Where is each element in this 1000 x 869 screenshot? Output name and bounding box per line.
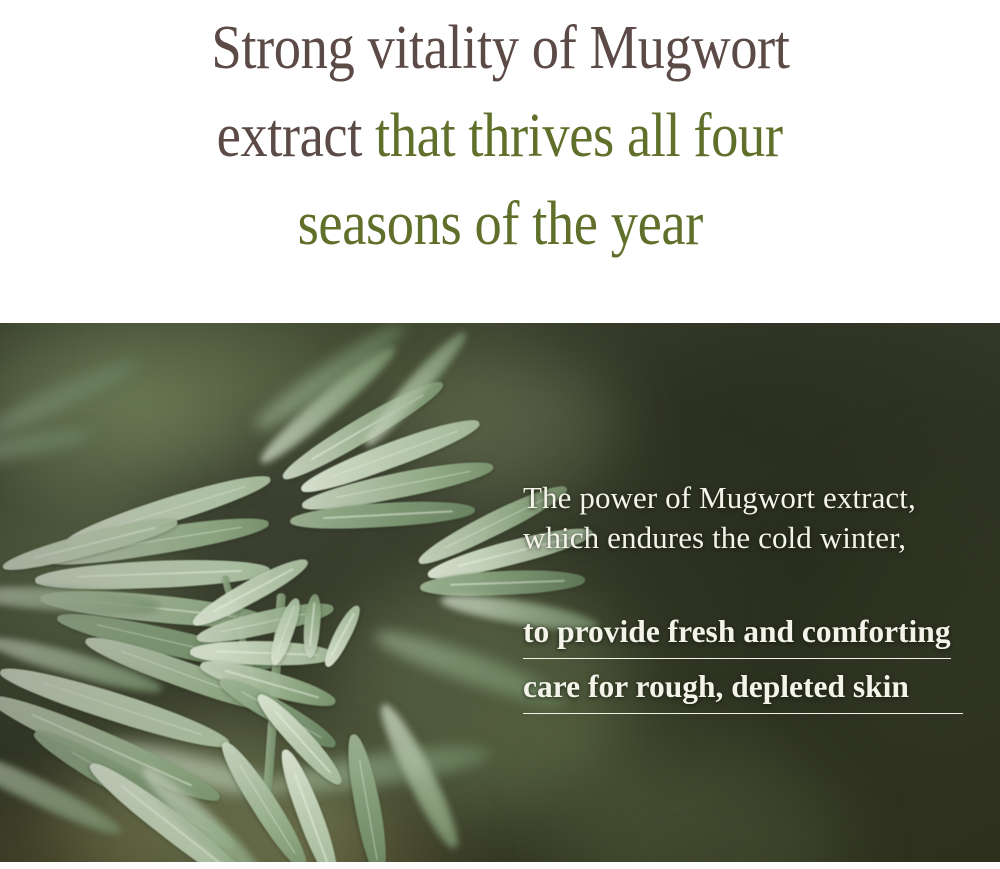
copy-paragraph-line-1: The power of Mugwort extract, xyxy=(523,478,963,518)
headline-line-2: extract that thrives all four xyxy=(217,92,783,180)
mugwort-photo: The power of Mugwort extract, which endu… xyxy=(0,323,1000,862)
mugwort-promo-banner: Strong vitality of Mugwort extract that … xyxy=(0,0,1000,869)
headline-line-1: Strong vitality of Mugwort xyxy=(211,4,789,92)
copy-emphasis-line-1: to provide fresh and comforting xyxy=(523,611,951,659)
headline-line-3: seasons of the year xyxy=(297,180,702,268)
bottom-white-strip xyxy=(0,862,1000,869)
copy-emphasis: to provide fresh and comforting care for… xyxy=(523,611,963,714)
copy-emphasis-line-2: care for rough, depleted skin xyxy=(523,666,963,714)
copy-paragraph-line-2: which endures the cold winter, xyxy=(523,518,963,558)
headline-line-2-green-text: that thrives all four xyxy=(376,102,783,170)
headline-line-3-text: seasons of the year xyxy=(297,190,702,258)
headline-line-1-text: Strong vitality of Mugwort xyxy=(211,14,789,82)
headline-block: Strong vitality of Mugwort extract that … xyxy=(0,0,1000,323)
overlay-copy: The power of Mugwort extract, which endu… xyxy=(523,478,963,714)
headline-line-2-brown-text: extract xyxy=(217,102,376,170)
